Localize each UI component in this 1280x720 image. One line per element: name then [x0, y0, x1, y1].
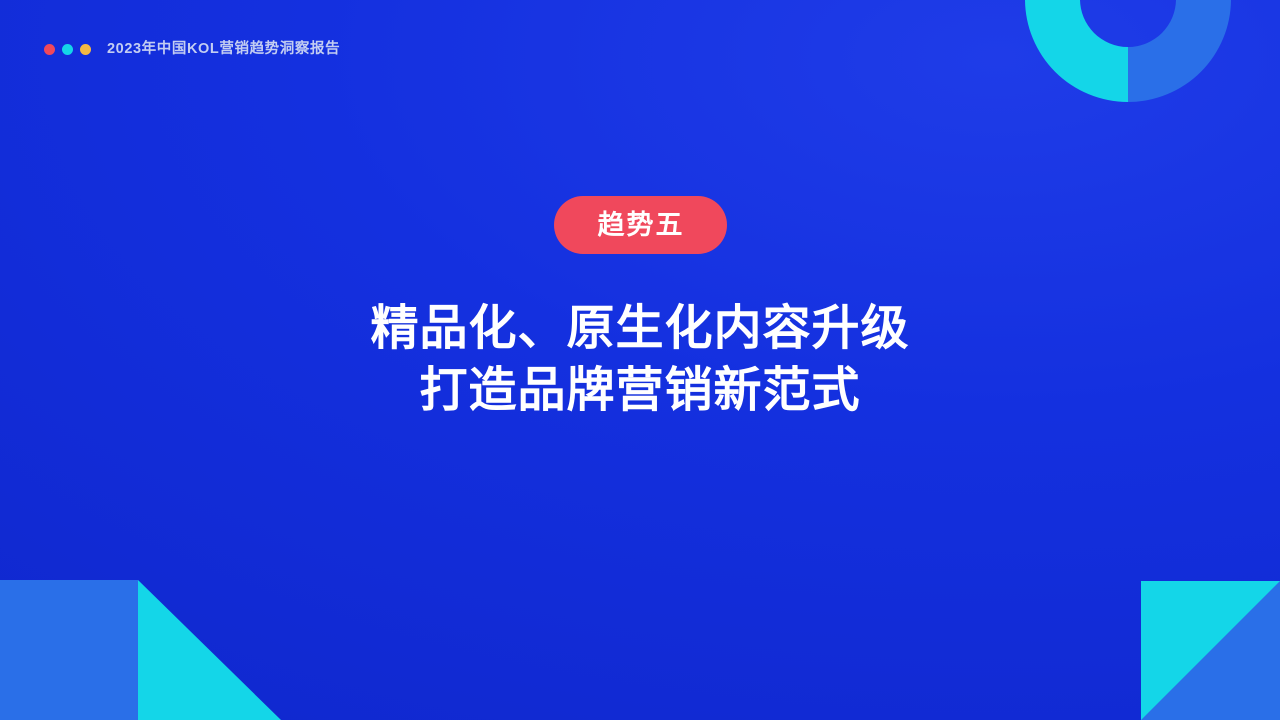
- dot-amber-icon: [80, 44, 91, 55]
- report-title: 2023年中国KOL营销趋势洞察报告: [107, 42, 340, 57]
- slide-body: 趋势五 精品化、原生化内容升级 打造品牌营销新范式: [0, 196, 1280, 422]
- ring-right-half: [1128, 0, 1231, 102]
- bottom-left-square-decoration: [0, 580, 138, 720]
- donut-ring-decoration: [1025, 0, 1231, 102]
- trend-badge: 趋势五: [554, 196, 727, 254]
- header-dots: [44, 44, 91, 55]
- presentation-slide: 2023年中国KOL营销趋势洞察报告 趋势五 精品化、原生化内容升级 打造品牌营…: [0, 0, 1280, 720]
- bottom-right-block-decoration: [1141, 581, 1280, 720]
- slide-header: 2023年中国KOL营销趋势洞察报告: [44, 36, 340, 62]
- bottom-right-cyan-triangle: [1141, 581, 1280, 720]
- slide-title-line-2: 打造品牌营销新范式: [370, 360, 909, 422]
- dot-cyan-icon: [62, 44, 73, 55]
- slide-title-line-1: 精品化、原生化内容升级: [370, 298, 909, 360]
- dot-red-icon: [44, 44, 55, 55]
- bottom-left-triangle-decoration: [138, 580, 281, 720]
- ring-left-half: [1025, 0, 1128, 102]
- slide-title: 精品化、原生化内容升级 打造品牌营销新范式: [370, 298, 909, 422]
